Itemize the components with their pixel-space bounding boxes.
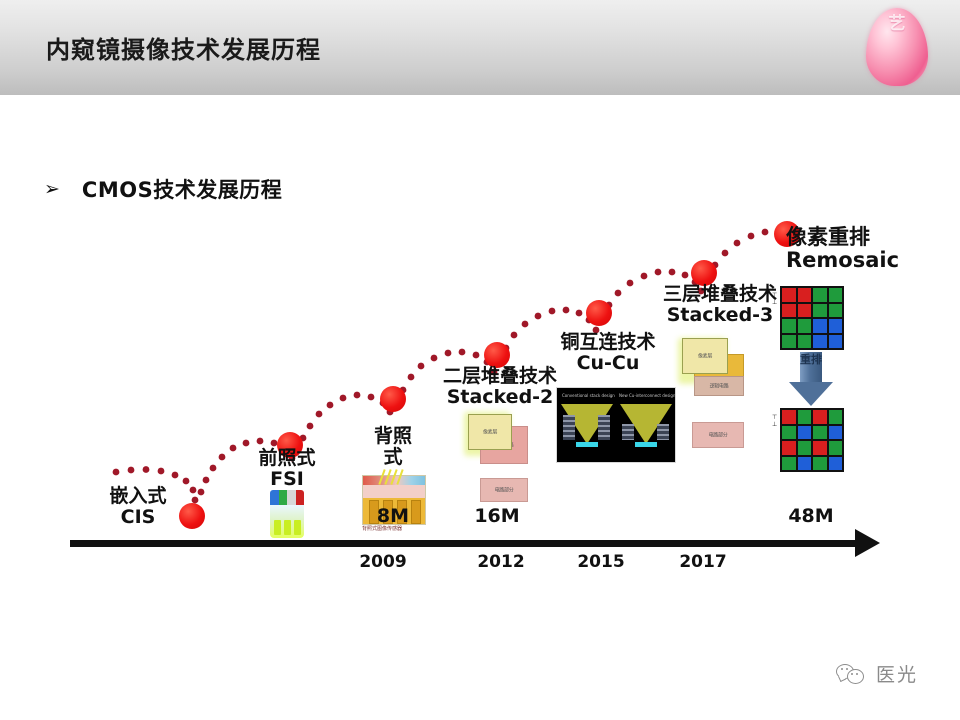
stage-cis-en: CIS [96,507,180,528]
title-bar: 内窥镜摄像技术发展历程 艺 [0,0,960,95]
fsi-photodiode [274,520,281,535]
stage-stacked2-en: Stacked-2 [432,387,568,408]
brand-logo-glyph: 艺 [866,14,928,34]
stage-label-fsi: 前照式 FSI [244,448,330,489]
stage-label-remosaic: 像素重排 Remosaic [786,226,936,271]
stage-label-bsi: 背照 式 [352,426,434,467]
fsi-color-filter-array [270,490,304,505]
cucu-right-panel: New Cu-interconnect design [616,388,675,462]
cucu-right-caption: New Cu-interconnect design [619,393,676,398]
stage-cis-cn: 嵌入式 [96,486,180,507]
cucu-left-panel: Conventional stack design [557,388,616,462]
quad-bayer-grid [780,286,844,350]
footer-brand: 医光 [836,660,918,687]
fsi-photodiode [294,520,301,535]
node-bsi [380,386,406,412]
cucu-left-caption: Conventional stack design [562,393,615,398]
stacked2-chip-diagram: 逻辑电路 像素层 电路部分 [462,410,530,505]
year-2012: 2012 [470,552,532,572]
chip-sensor-label: 像素层 [683,353,727,360]
cmos-timeline-chart: 嵌入式 CIS 前照式 FSI 背照 式 背照式图像传感器 8M [0,200,960,590]
stage-bsi-cn-2: 式 [352,447,434,468]
wechat-eye-dot [841,668,843,670]
fsi-photodiode [284,520,291,535]
stacked3-chip-diagram: 存储层 逻辑电路 像素层 电路部分 [678,336,756,462]
stage-label-cucu: 铜互连技术 Cu-Cu [546,332,670,373]
stage-label-stacked3: 三层堆叠技术 Stacked-3 [652,284,788,325]
chip-circuit-label: 电路部分 [481,487,527,494]
cucu-metal-stack [657,424,669,440]
remosaic-arrow-label: 重排 [789,354,833,366]
cucu-metal-stack [598,415,610,440]
year-2009: 2009 [352,552,414,572]
stage-stacked3-en: Stacked-3 [652,305,788,326]
resolution-8m: 8M [362,505,424,527]
resolution-16m: 16M [466,505,528,527]
stage-remosaic-en: Remosaic [786,249,936,272]
stage-fsi-en: FSI [244,469,330,490]
wechat-icon [836,663,868,685]
cucu-illustration: Conventional stack design New Cu-interco… [556,387,676,463]
stage-stacked3-cn: 三层堆叠技术 [652,284,788,305]
chip-sensor-layer: 像素层 [468,414,512,450]
node-cis [179,503,205,529]
resolution-48m: 48M [774,505,848,527]
timeline-axis [70,540,860,547]
cucu-photodiode [576,442,598,447]
quad-bayer-dimension-marker: ⊤⊥ [772,292,777,306]
chip-sensor-label: 像素层 [469,429,511,436]
stage-bsi-cn-1: 背照 [352,426,434,447]
wechat-bubble-small [847,669,864,684]
cucu-metal-stack [563,415,575,440]
cucu-photodiode [635,442,657,447]
chip-sensor-layer: 像素层 [682,338,728,374]
stage-cucu-cn: 铜互连技术 [546,332,670,353]
footer-account-name: 医光 [876,660,918,687]
stage-label-cis: 嵌入式 CIS [96,486,180,527]
wechat-eye-dot [846,668,848,670]
bayer-grid [780,408,844,472]
chip-logic-layer: 逻辑电路 [694,376,744,396]
chip-logic-label: 逻辑电路 [695,383,743,390]
bullet-arrow-icon: ➢ [44,180,60,199]
bayer-dimension-marker: ⊤⊥ [772,414,777,428]
brand-egg-logo: 艺 [866,8,928,86]
wechat-eye-dot [851,673,853,675]
fsi-sensor-icon [270,490,304,538]
chip-circuit-label: 电路部分 [693,432,743,439]
cucu-metal-stack [622,424,634,440]
year-2017: 2017 [672,552,734,572]
stage-cucu-en: Cu-Cu [546,353,670,374]
year-2015: 2015 [570,552,632,572]
bsi-photodiode-layer [363,485,425,498]
stage-fsi-cn: 前照式 [244,448,330,469]
chip-circuit-block: 电路部分 [692,422,744,448]
wechat-eye-dot [856,673,858,675]
stage-remosaic-cn: 像素重排 [786,226,936,249]
page-title: 内窥镜摄像技术发展历程 [46,30,321,65]
arrow-head [789,382,833,406]
remosaic-arrow-icon: 重排 [789,352,833,406]
chip-circuit-block: 电路部分 [480,478,528,502]
node-cucu [586,300,612,326]
timeline-axis-arrowhead [855,529,880,557]
